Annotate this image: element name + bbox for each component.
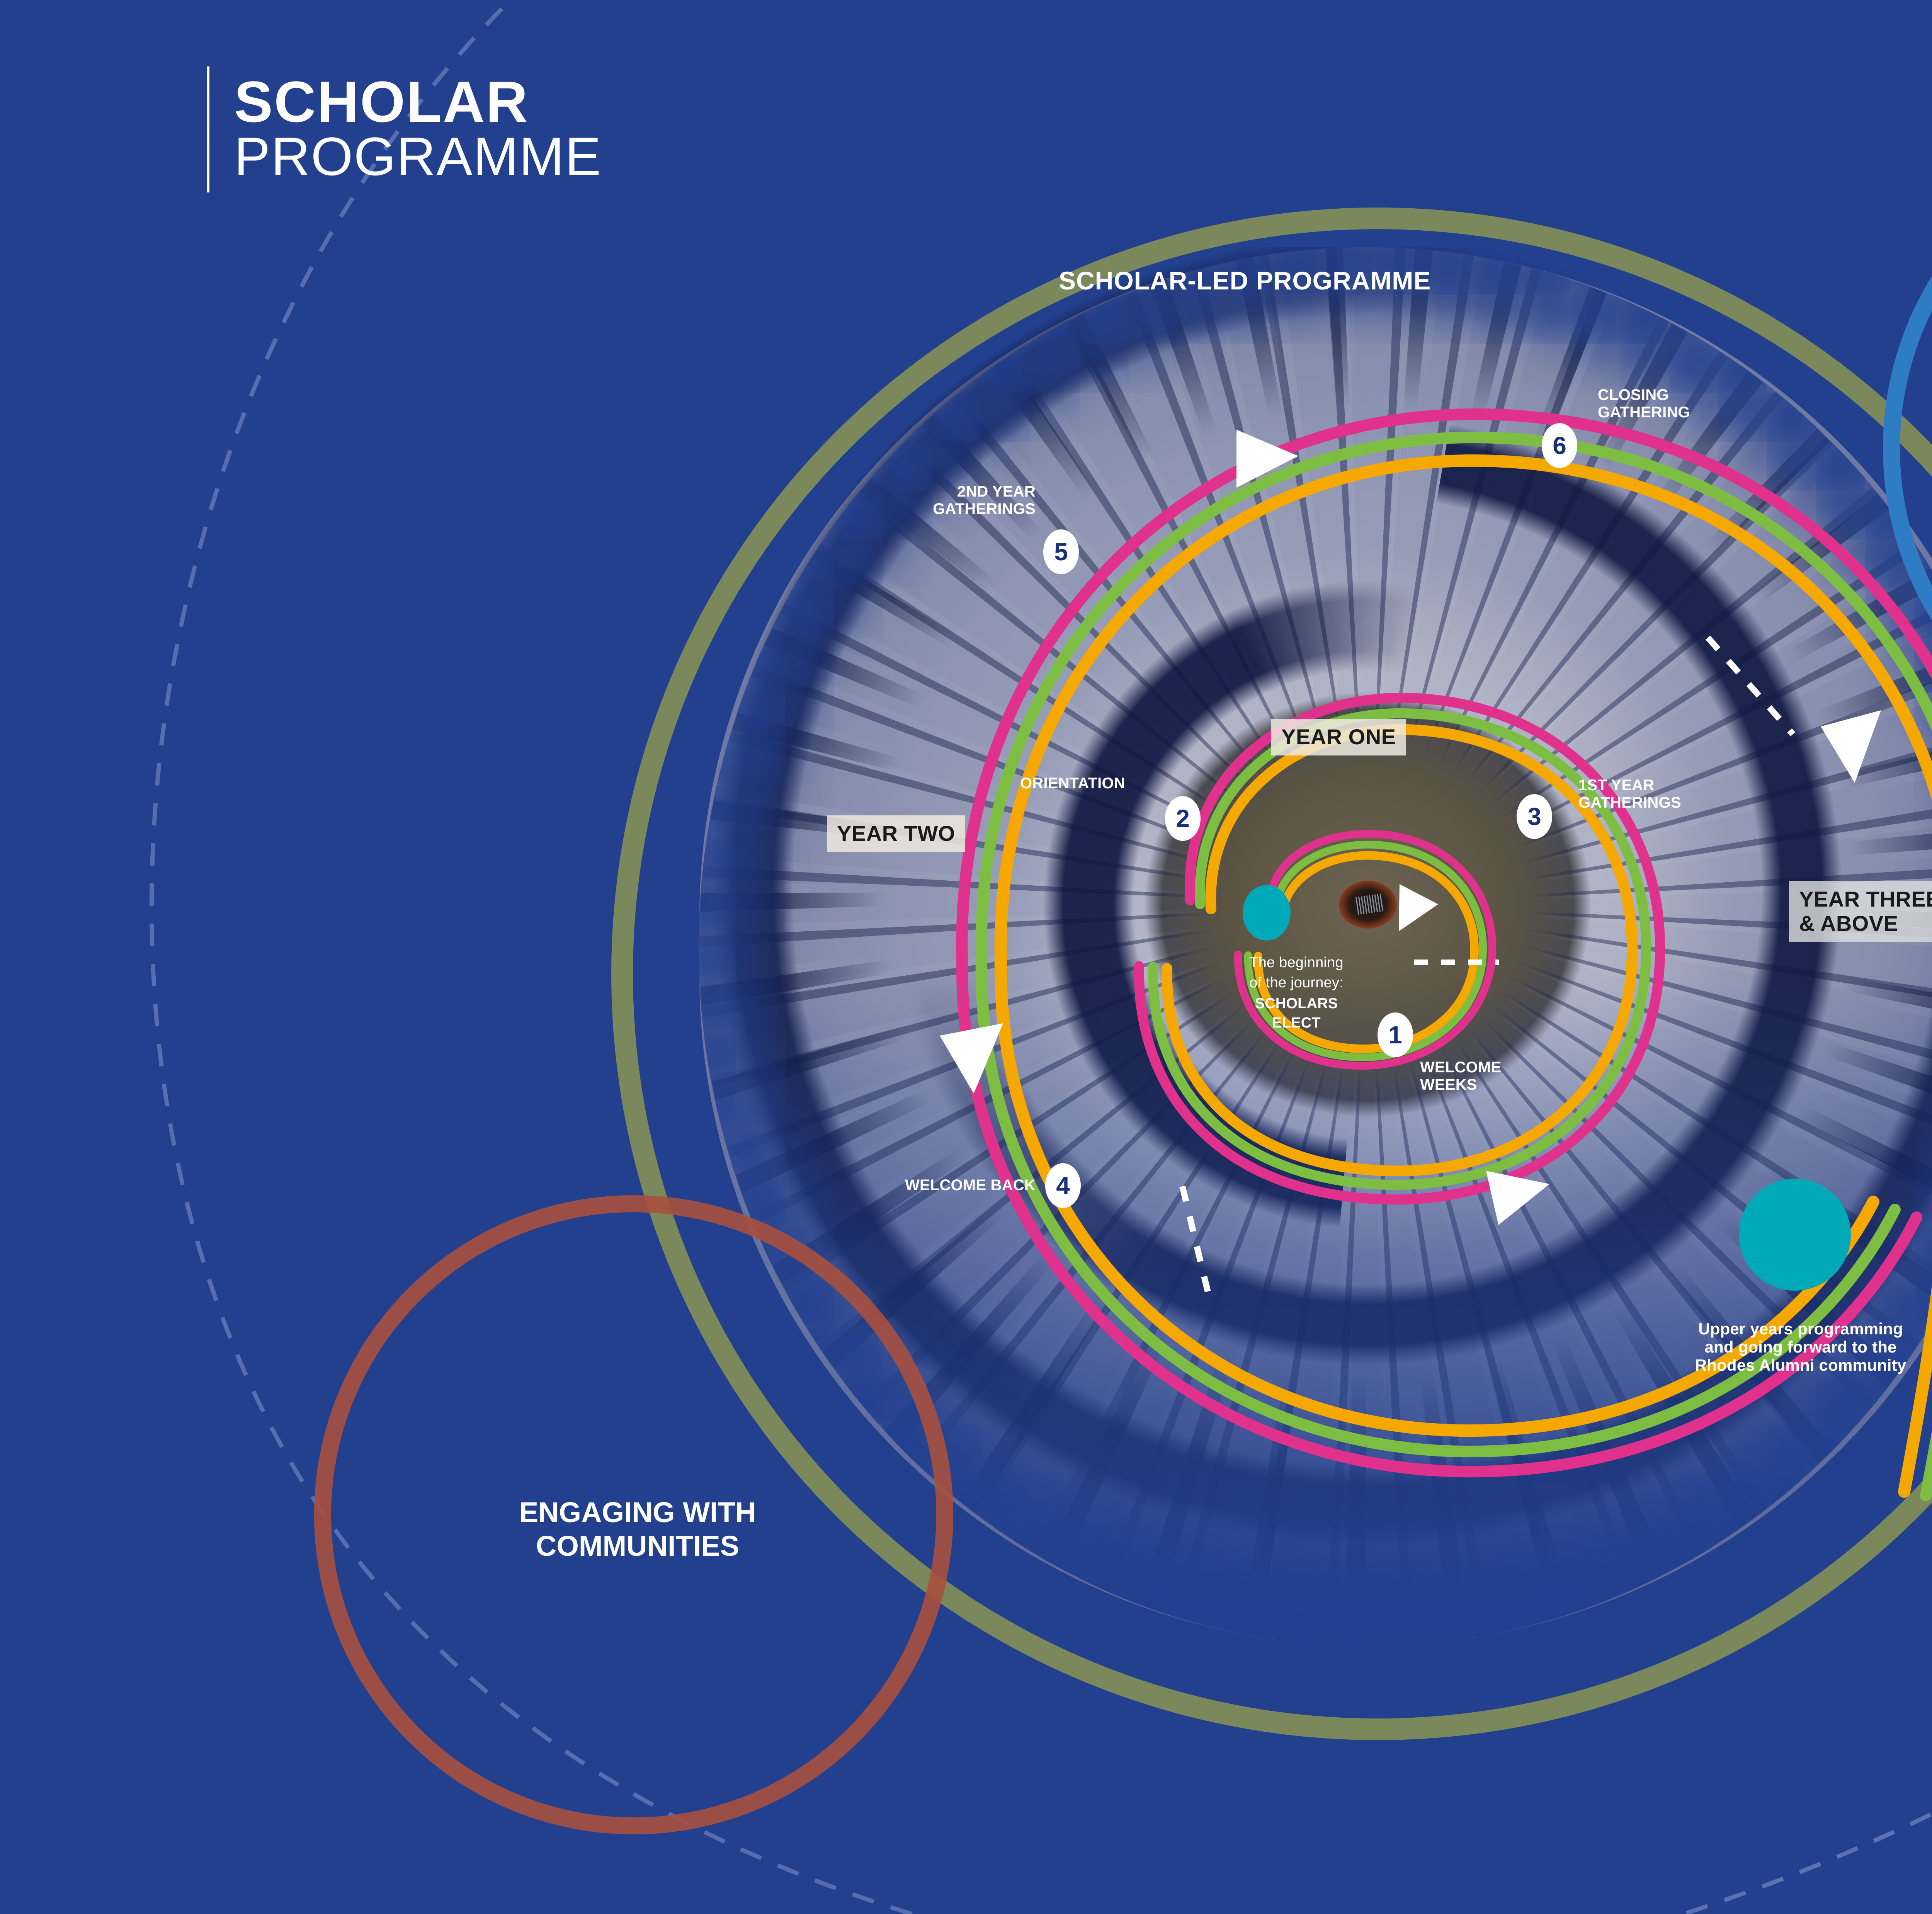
logo-divider <box>207 66 209 192</box>
milestone-label-2: ORIENTATION <box>1020 775 1198 792</box>
milestone-marker-1[interactable]: 1 <box>1378 1012 1413 1057</box>
centre-note-line1: The beginning <box>1196 954 1397 971</box>
milestone-marker-5[interactable]: 5 <box>1043 529 1079 574</box>
rhodes-r-bird-icon <box>73 54 185 205</box>
heading-scholar-led-programme: SCHOLAR-LED PROGRAMME <box>1059 267 1431 295</box>
year-band-year-one: YEAR ONE <box>1271 719 1406 755</box>
logo-scholar-word: SCHOLAR <box>234 75 602 129</box>
centre-note-line4: ELECT <box>1196 1015 1397 1031</box>
centre-note-line3: SCHOLARS <box>1196 995 1397 1012</box>
milestone-label-3: 1ST YEAR GATHERINGS <box>1578 777 1748 812</box>
logo-programme-word: PROGRAMME <box>234 129 602 184</box>
teal-dot-centre <box>1243 885 1291 941</box>
direction-arrow-centre <box>1399 884 1438 931</box>
milestone-marker-6[interactable]: 6 <box>1542 423 1577 468</box>
spiral-strand-amber-mid <box>1167 730 1632 1171</box>
year-band-year-two: YEAR TWO <box>827 815 965 852</box>
direction-arrow-right-outer <box>1821 710 1881 783</box>
milestone-marker-4[interactable]: 4 <box>1045 1163 1081 1208</box>
milestone-label-5: 2ND YEAR GATHERINGS <box>862 483 1036 518</box>
milestone-label-1: WELCOME WEEKS <box>1420 1059 1590 1094</box>
dotted-crossmark-right <box>1708 638 1793 734</box>
milestone-label-6: CLOSING GATHERING <box>1598 386 1768 421</box>
rhodes-scholar-programme-logo: SCHOLAR PROGRAMME <box>73 54 602 205</box>
direction-arrow-bottom-mid <box>1486 1171 1549 1225</box>
diagram-overlay: OXFORD UNIVERSITY · DEPARTMENTS · COLLEG… <box>0 0 1932 1914</box>
heading-engaging-with-communities: ENGAGING WITH COMMUNITIES <box>336 1495 939 1563</box>
milestone-marker-3[interactable]: 3 <box>1517 794 1552 839</box>
upper-years-note: Upper years programming and going forwar… <box>1631 1320 1932 1374</box>
teal-dot-outer <box>1739 1179 1851 1291</box>
year-band-year-three: YEAR THREE & ABOVE <box>1789 881 1932 942</box>
infographic-canvas: OXFORD UNIVERSITY · DEPARTMENTS · COLLEG… <box>0 0 1932 1914</box>
milestone-marker-2[interactable]: 2 <box>1165 796 1201 841</box>
milestone-label-4: WELCOME BACK <box>819 1177 1036 1194</box>
dotted-crossmark-bottom <box>1182 1186 1209 1298</box>
centre-note-line2: of the journey: <box>1196 975 1397 991</box>
